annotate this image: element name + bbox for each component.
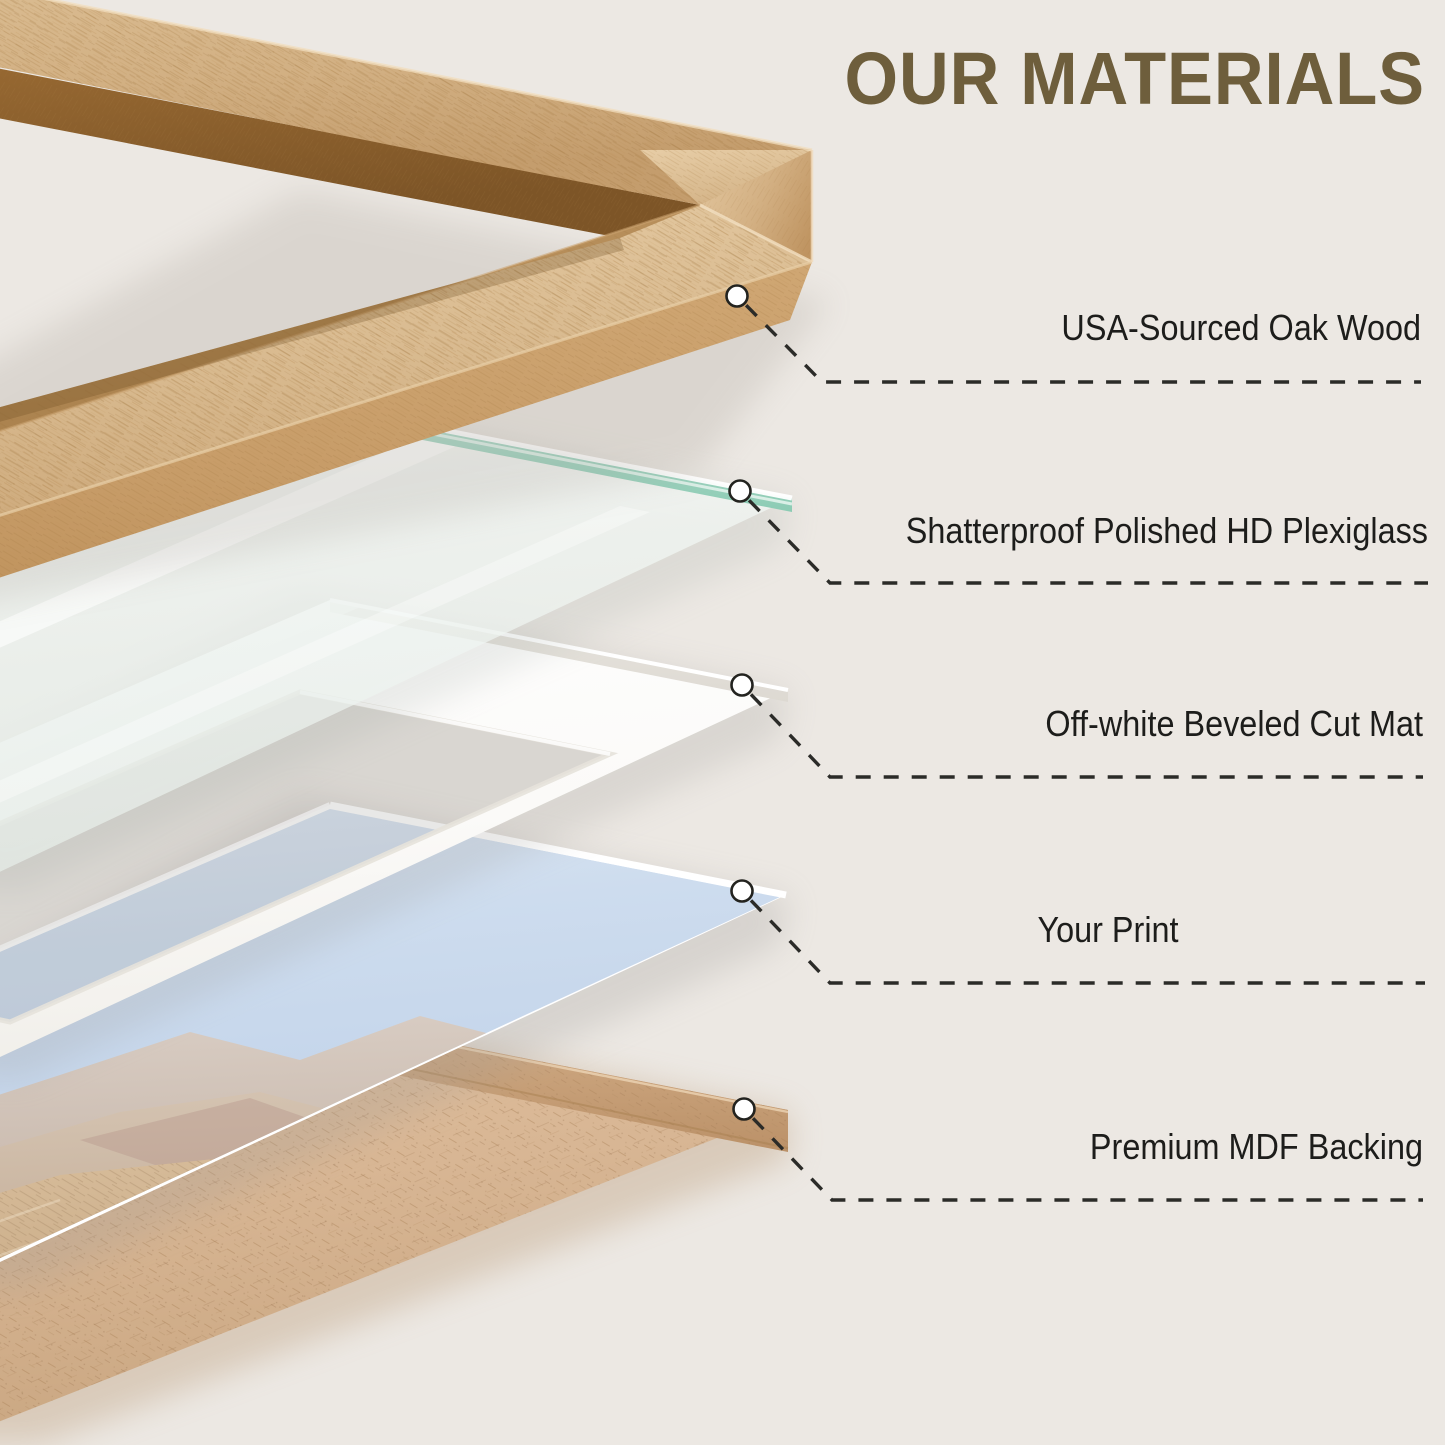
callout-marker-print[interactable] <box>732 881 753 902</box>
infographic-canvas: OUR MATERIALS USA-Sourced Oak WoodShatte… <box>0 0 1445 1445</box>
callout-marker-oak-wood[interactable] <box>727 286 748 307</box>
callout-marker-plexiglass[interactable] <box>730 481 751 502</box>
callout-marker-mat[interactable] <box>732 675 753 696</box>
frame-exploded-illustration <box>0 0 1445 1445</box>
callout-marker-mdf[interactable] <box>734 1099 755 1120</box>
page-title: OUR MATERIALS <box>807 42 1425 116</box>
